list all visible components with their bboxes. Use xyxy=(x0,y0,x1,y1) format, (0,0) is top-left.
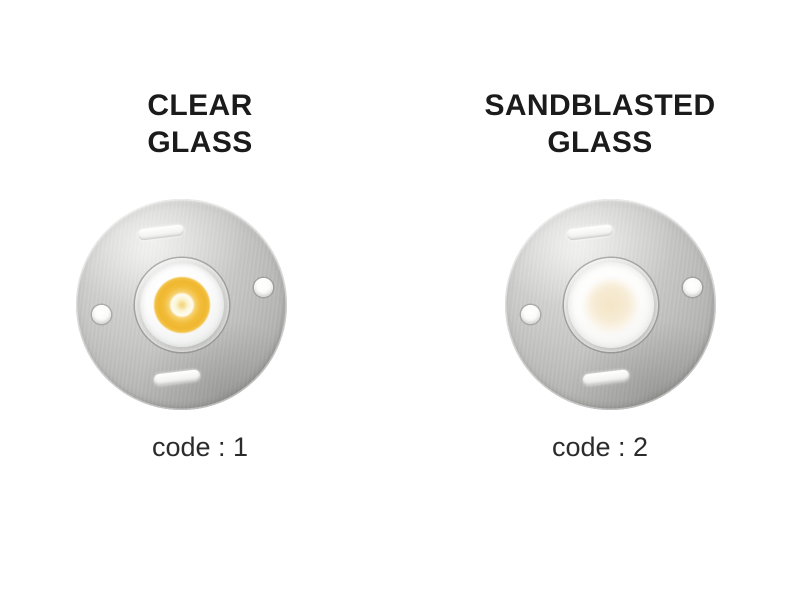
lens-sandblasted-glass xyxy=(564,258,658,352)
mounting-hole-right-icon xyxy=(683,278,702,297)
product-comparison-figure: CLEAR GLASS code : 1 SANDBLASTED G xyxy=(0,0,800,600)
product-title-sandblasted: SANDBLASTED GLASS xyxy=(400,88,800,161)
product-title-clear: CLEAR GLASS xyxy=(0,88,400,161)
mounting-hole-left-icon xyxy=(521,305,540,324)
led-glow-core xyxy=(598,292,624,318)
lens-frosted-surface xyxy=(568,262,654,348)
product-code-clear: code : 1 xyxy=(0,432,400,463)
product-sandblasted-glass: SANDBLASTED GLASS code : 2 xyxy=(400,0,800,600)
led-center-dot xyxy=(177,300,186,309)
mounting-hole-left-icon xyxy=(92,305,111,324)
mounting-hole-right-icon xyxy=(254,278,273,297)
product-code-sandblasted: code : 2 xyxy=(400,432,800,463)
lens-glass-surface xyxy=(140,263,224,347)
product-clear-glass: CLEAR GLASS code : 1 xyxy=(0,0,400,600)
fixture-clear-glass xyxy=(76,199,287,410)
lens-clear-glass xyxy=(135,258,229,352)
fixture-sandblasted-glass xyxy=(505,199,716,410)
